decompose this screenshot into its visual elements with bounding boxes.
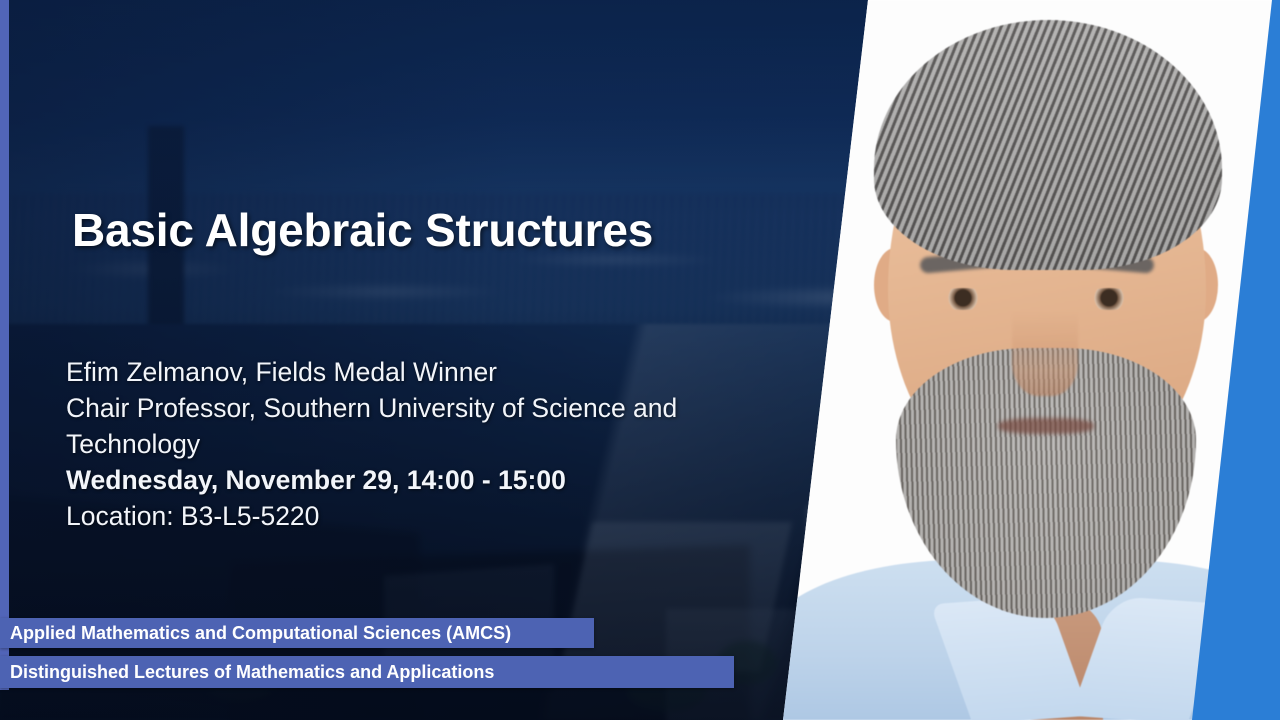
- slide-content: Basic Algebraic Structures Efim Zelmanov…: [0, 0, 860, 720]
- lecture-details: Efim Zelmanov, Fields Medal Winner Chair…: [66, 354, 766, 534]
- department-banner-label: Applied Mathematics and Computational Sc…: [0, 623, 511, 644]
- lecture-series-banner: Distinguished Lectures of Mathematics an…: [0, 656, 734, 688]
- speaker-name-line: Efim Zelmanov, Fields Medal Winner: [66, 354, 766, 390]
- lecture-announcement-slide: Basic Algebraic Structures Efim Zelmanov…: [0, 0, 1280, 720]
- lecture-series-banner-label: Distinguished Lectures of Mathematics an…: [0, 662, 494, 683]
- lecture-datetime-line: Wednesday, November 29, 14:00 - 15:00: [66, 462, 766, 498]
- department-banner: Applied Mathematics and Computational Sc…: [0, 618, 594, 648]
- lecture-title: Basic Algebraic Structures: [72, 203, 653, 257]
- speaker-affiliation-line: Chair Professor, Southern University of …: [66, 390, 766, 462]
- portrait-eye-right: [1080, 288, 1138, 310]
- portrait-nose: [1012, 312, 1078, 396]
- portrait-eye-left: [934, 288, 992, 310]
- lecture-location-line: Location: B3-L5-5220: [66, 498, 766, 534]
- portrait-mouth: [998, 418, 1094, 434]
